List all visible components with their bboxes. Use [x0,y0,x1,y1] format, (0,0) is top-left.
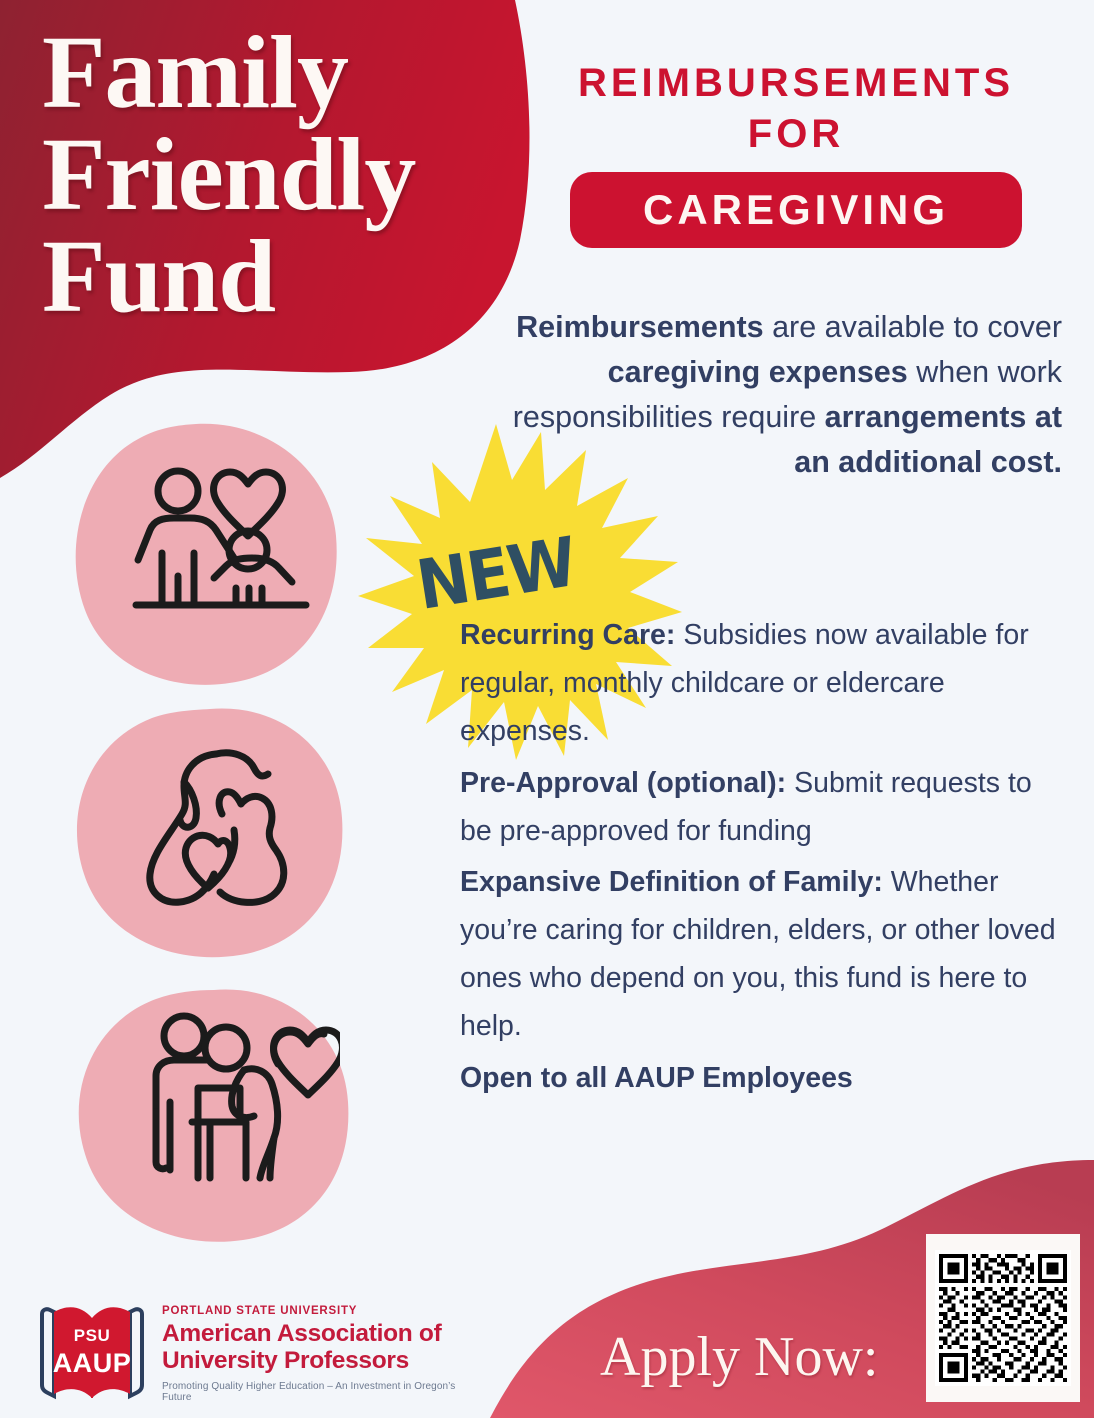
logo-mark-line-2: AAUP [53,1348,132,1379]
logo-name-line-1: American Association of [162,1321,468,1347]
qr-code[interactable] [926,1234,1080,1402]
dog-cat-heart-icon [122,738,312,910]
open-book-icon: PSU AAUP [38,1300,146,1404]
list-item-label: Pre-Approval (optional): [460,767,786,799]
new-badge-label: NEW [412,523,581,626]
eldercare-walker-heart-icon [140,1010,340,1192]
intro-bold-1: Reimbursements [516,310,763,344]
apply-now-label: Apply Now: [600,1325,878,1389]
page-title: Family Friendly Fund [42,22,472,328]
new-badge: NEW [362,424,630,724]
logo-tagline: Promoting Quality Higher Education – An … [162,1381,468,1403]
logo-text-block: PORTLAND STATE UNIVERSITY American Assoc… [162,1301,468,1403]
logo-mark-line-1: PSU [74,1326,110,1346]
intro-text-2: are available to cover [764,310,1062,344]
intro-bold-3: caregiving expenses [608,355,908,389]
header-line-1: REIMBURSEMENTS [520,58,1072,109]
title-line-1: Family [42,22,472,124]
list-item: Expansive Definition of Family: Whether … [460,859,1066,1051]
list-item: Pre-Approval (optional): Submit requests… [460,760,1066,856]
title-line-2: Friendly [42,124,472,226]
psu-aaup-logo: PSU AAUP PORTLAND STATE UNIVERSITY Ameri… [38,1296,468,1408]
logo-eyebrow: PORTLAND STATE UNIVERSITY [162,1305,468,1317]
header-line-2: FOR [520,109,1072,160]
header-block: REIMBURSEMENTS FOR CAREGIVING [520,58,1072,248]
caregiving-badge-label: CAREGIVING [643,186,949,234]
qr-code-image [935,1243,1071,1393]
caregiving-badge: CAREGIVING [570,172,1022,248]
eligibility-note: Open to all AAUP Employees [460,1055,1066,1103]
poster-canvas: Family Friendly Fund REIMBURSEMENTS FOR … [0,0,1094,1418]
intro-bold-5: arrangements at an additional cost. [794,400,1062,479]
logo-name-line-2: University Professors [162,1348,468,1374]
list-item-label: Expansive Definition of Family: [460,866,883,898]
title-line-3: Fund [42,226,472,328]
parent-child-heart-icon [130,458,330,626]
